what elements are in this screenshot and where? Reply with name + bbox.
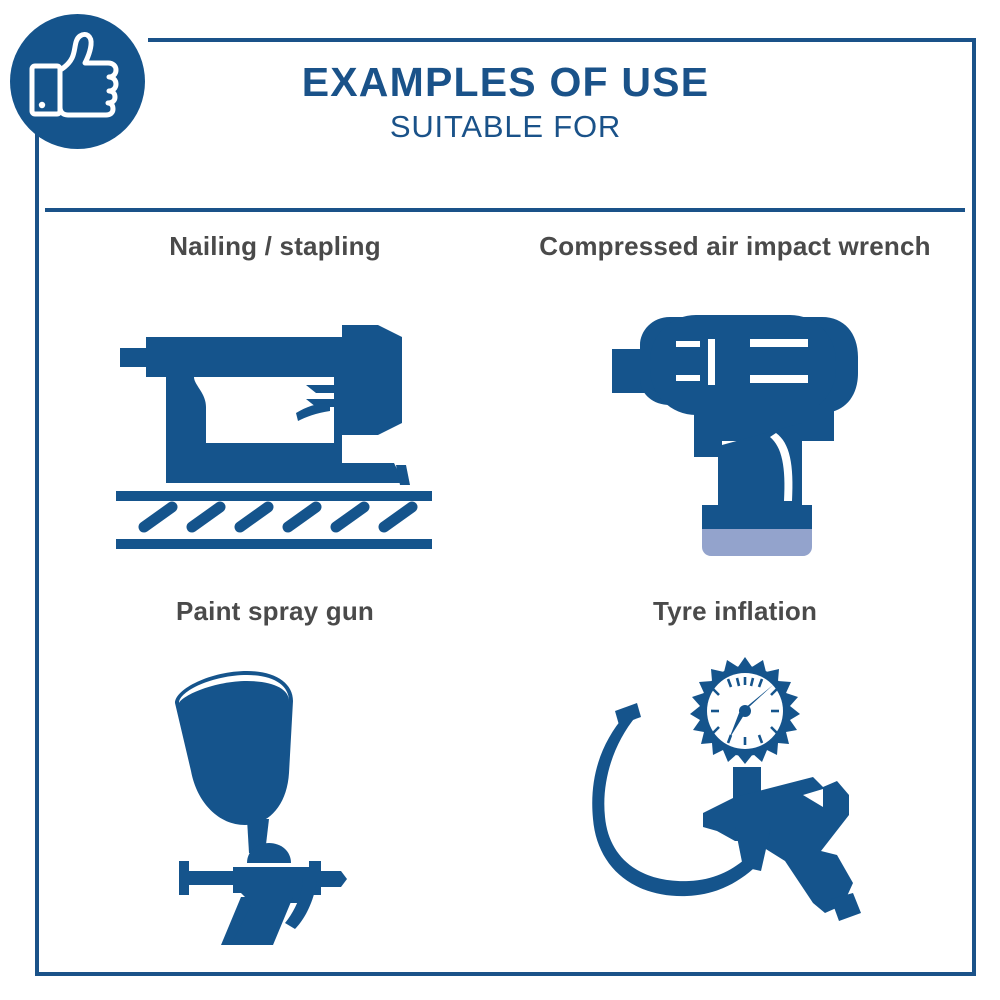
examples-grid: Nailing / stapling (45, 228, 965, 958)
example-label: Compressed air impact wrench (539, 228, 930, 276)
spray-gun-icon (45, 641, 505, 958)
example-cell-spray-gun: Paint spray gun (45, 593, 505, 958)
impact-wrench-icon (505, 276, 965, 593)
thumbs-up-icon (10, 14, 145, 149)
header-divider (45, 208, 965, 212)
example-cell-tyre-inflation: Tyre inflation (505, 593, 965, 958)
example-label: Nailing / stapling (169, 228, 381, 276)
nail-gun-icon (45, 276, 505, 593)
example-cell-nailing: Nailing / stapling (45, 228, 505, 593)
examples-of-use-panel: EXAMPLES OF USE SUITABLE FOR Nailing / s… (0, 0, 1000, 1000)
tyre-inflator-gauge-icon (505, 641, 965, 958)
example-label: Paint spray gun (176, 593, 374, 641)
example-label: Tyre inflation (653, 593, 817, 641)
example-cell-impact-wrench: Compressed air impact wrench (505, 228, 965, 593)
